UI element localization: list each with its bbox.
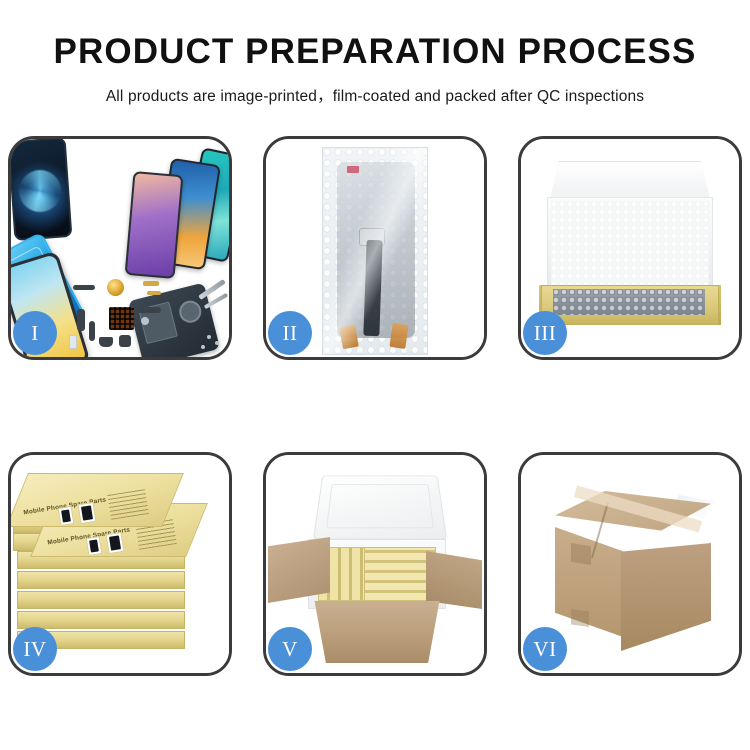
step-badge-2: II xyxy=(268,311,312,355)
screw-part-3 xyxy=(201,345,205,349)
box-window-front-2 xyxy=(106,532,125,554)
step-panel-6: VI xyxy=(518,452,742,676)
step-panel-2: II xyxy=(263,136,487,360)
speaker-part xyxy=(99,337,113,347)
carton-tab-lower xyxy=(571,609,589,627)
step-badge-4: IV xyxy=(13,627,57,671)
step-badge-1: I xyxy=(13,311,57,355)
product-preparation-infographic: PRODUCT PREPARATION PROCESS All products… xyxy=(0,0,750,750)
small-white-part xyxy=(69,335,77,349)
flex-cable-part-4 xyxy=(137,307,161,313)
box-window-front-1 xyxy=(86,536,103,556)
tempered-glass-screen xyxy=(11,139,72,241)
step-badge-3: III xyxy=(523,311,567,355)
gold-contact-part-2 xyxy=(147,291,161,295)
white-foam-lining xyxy=(551,201,709,289)
header: PRODUCT PREPARATION PROCESS All products… xyxy=(0,0,750,106)
plastic-gloss-highlight xyxy=(323,148,427,354)
carton-front-wall xyxy=(306,601,448,663)
speaker-coil-part xyxy=(107,279,124,296)
camera-lens-part xyxy=(141,317,149,325)
step-badge-6: VI xyxy=(523,627,567,671)
step-panel-5: V xyxy=(263,452,487,676)
carton-flap-right xyxy=(426,551,482,609)
page-title: PRODUCT PREPARATION PROCESS xyxy=(0,34,750,69)
page-subtitle: All products are image-printed，film-coat… xyxy=(0,84,750,106)
stacked-box-bottom-3 xyxy=(17,591,185,609)
flex-cable-part-2 xyxy=(77,309,85,331)
bubble-wrap-bag xyxy=(322,147,428,355)
carton-flap-left xyxy=(268,537,330,603)
box-window-back-2 xyxy=(78,502,97,524)
bubble-wrapped-contents xyxy=(553,289,705,315)
step-panel-1: I xyxy=(8,136,232,360)
screw-part-2 xyxy=(215,341,219,345)
yellow-boxes-row-2 xyxy=(364,547,436,601)
step-panel-3: III xyxy=(518,136,742,360)
shipping-carton xyxy=(545,491,719,641)
connector-grid-part xyxy=(109,307,134,330)
step-panel-4: Mobile Phone Spare Parts Mobile Phone Sp… xyxy=(8,452,232,676)
carton-tab-upper xyxy=(571,543,591,565)
process-steps-grid: I II xyxy=(8,136,742,684)
stacked-box-bottom-4 xyxy=(17,571,185,589)
vibration-motor-part xyxy=(119,335,131,347)
flex-cable-part-3 xyxy=(89,321,95,341)
carton-left-face xyxy=(555,527,623,637)
step-badge-5: V xyxy=(268,627,312,671)
carton-right-face xyxy=(621,543,711,651)
screw-part-1 xyxy=(207,335,211,339)
foam-box-lid xyxy=(313,475,447,539)
flex-cable-part-1 xyxy=(73,285,95,290)
box-window-back-1 xyxy=(58,506,75,526)
stacked-box-bottom-2 xyxy=(17,611,185,629)
gold-contact-part xyxy=(143,281,159,286)
phone-purple xyxy=(125,171,184,279)
